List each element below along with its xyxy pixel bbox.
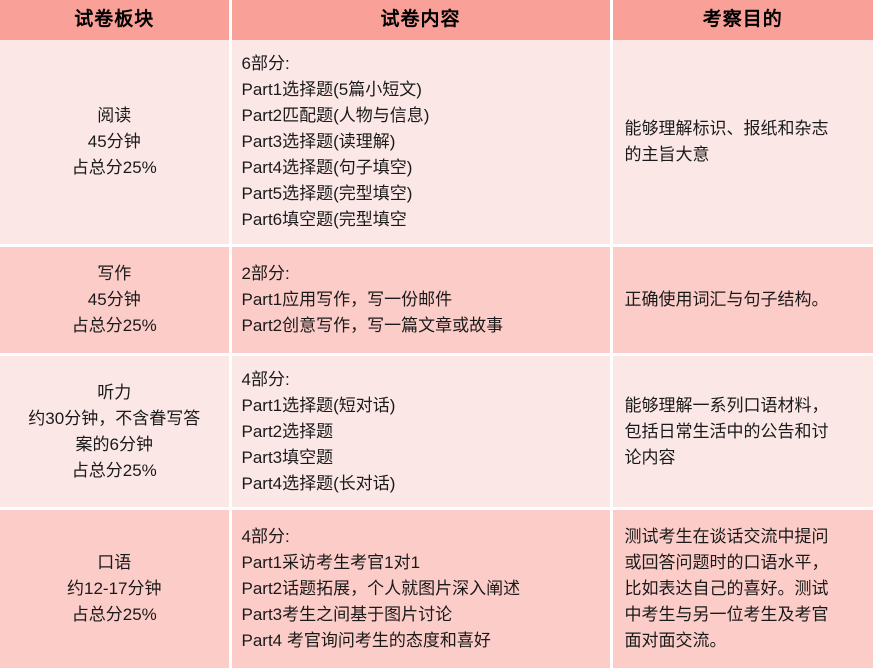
table-row-speaking: 口语 约12-17分钟 占总分25% 4部分: Part1采访考生考官1对1 P… [0,509,873,668]
section-line: 阅读 [8,103,221,129]
cell-content-writing: 2部分: Part1应用写作，写一份邮件 Part2创意写作，写一篇文章或故事 [230,246,611,355]
table-row-listening: 听力 约30分钟，不含眷写答 案的6分钟 占总分25% 4部分: Part1选择… [0,355,873,509]
cell-section-reading: 阅读 45分钟 占总分25% [0,40,230,246]
section-line: 占总分25% [8,155,221,181]
goal-line: 面对面交流。 [625,628,864,654]
section-line: 45分钟 [8,129,221,155]
content-line: Part4选择题(句子填空) [242,155,604,181]
goal-line: 测试考生在谈话交流中提问 [625,524,864,550]
cell-content-reading: 6部分: Part1选择题(5篇小短文) Part2匹配题(人物与信息) Par… [230,40,611,246]
section-line: 约30分钟，不含眷写答 [8,406,221,432]
content-line: 6部分: [242,51,604,77]
section-line: 听力 [8,380,221,406]
content-line: Part2匹配题(人物与信息) [242,103,604,129]
column-header-content: 试卷内容 [230,0,611,40]
goal-line: 正确使用词汇与句子结构。 [625,287,864,313]
goal-line: 能够理解一系列口语材料， [625,393,864,419]
section-line: 45分钟 [8,287,221,313]
content-line: Part1应用写作，写一份邮件 [242,287,604,313]
content-line: 4部分: [242,524,604,550]
goal-line: 比如表达自己的喜好。测试 [625,576,864,602]
table-row-reading: 阅读 45分钟 占总分25% 6部分: Part1选择题(5篇小短文) Part… [0,40,873,246]
goal-line: 能够理解标识、报纸和杂志 [625,116,864,142]
exam-structure-table: 试卷板块 试卷内容 考察目的 阅读 45分钟 占总分25% 6部分: Part1… [0,0,873,668]
content-line: Part2选择题 [242,419,604,445]
cell-section-listening: 听力 约30分钟，不含眷写答 案的6分钟 占总分25% [0,355,230,509]
table-row-writing: 写作 45分钟 占总分25% 2部分: Part1应用写作，写一份邮件 Part… [0,246,873,355]
content-line: Part3填空题 [242,445,604,471]
content-line: Part3选择题(读理解) [242,129,604,155]
content-line: Part1选择题(5篇小短文) [242,77,604,103]
content-line: 2部分: [242,261,604,287]
section-line: 约12-17分钟 [8,576,221,602]
section-line: 口语 [8,550,221,576]
content-line: Part1选择题(短对话) [242,393,604,419]
table-header-row: 试卷板块 试卷内容 考察目的 [0,0,873,40]
section-line: 占总分25% [8,458,221,484]
content-line: Part4 考官询问考生的态度和喜好 [242,628,604,654]
column-header-goal: 考察目的 [611,0,873,40]
content-line: Part5选择题(完型填空) [242,181,604,207]
goal-line: 包括日常生活中的公告和讨 [625,419,864,445]
cell-content-speaking: 4部分: Part1采访考生考官1对1 Part2话题拓展，个人就图片深入阐述 … [230,509,611,668]
section-line: 占总分25% [8,313,221,339]
goal-line: 的主旨大意 [625,142,864,168]
table-header: 试卷板块 试卷内容 考察目的 [0,0,873,40]
cell-goal-writing: 正确使用词汇与句子结构。 [611,246,873,355]
section-line: 案的6分钟 [8,432,221,458]
content-line: Part2创意写作，写一篇文章或故事 [242,313,604,339]
cell-goal-listening: 能够理解一系列口语材料， 包括日常生活中的公告和讨 论内容 [611,355,873,509]
content-line: Part2话题拓展，个人就图片深入阐述 [242,576,604,602]
cell-section-writing: 写作 45分钟 占总分25% [0,246,230,355]
section-line: 写作 [8,261,221,287]
cell-goal-reading: 能够理解标识、报纸和杂志 的主旨大意 [611,40,873,246]
goal-line: 论内容 [625,445,864,471]
content-line: Part3考生之间基于图片讨论 [242,602,604,628]
cell-section-speaking: 口语 约12-17分钟 占总分25% [0,509,230,668]
section-line: 占总分25% [8,602,221,628]
content-line: Part4选择题(长对话) [242,471,604,497]
goal-line: 或回答问题时的口语水平， [625,550,864,576]
cell-goal-speaking: 测试考生在谈话交流中提问 或回答问题时的口语水平， 比如表达自己的喜好。测试 中… [611,509,873,668]
cell-content-listening: 4部分: Part1选择题(短对话) Part2选择题 Part3填空题 Par… [230,355,611,509]
table-body: 阅读 45分钟 占总分25% 6部分: Part1选择题(5篇小短文) Part… [0,40,873,668]
column-header-section: 试卷板块 [0,0,230,40]
content-line: Part6填空题(完型填空 [242,207,604,233]
goal-line: 中考生与另一位考生及考官 [625,602,864,628]
content-line: 4部分: [242,367,604,393]
content-line: Part1采访考生考官1对1 [242,550,604,576]
